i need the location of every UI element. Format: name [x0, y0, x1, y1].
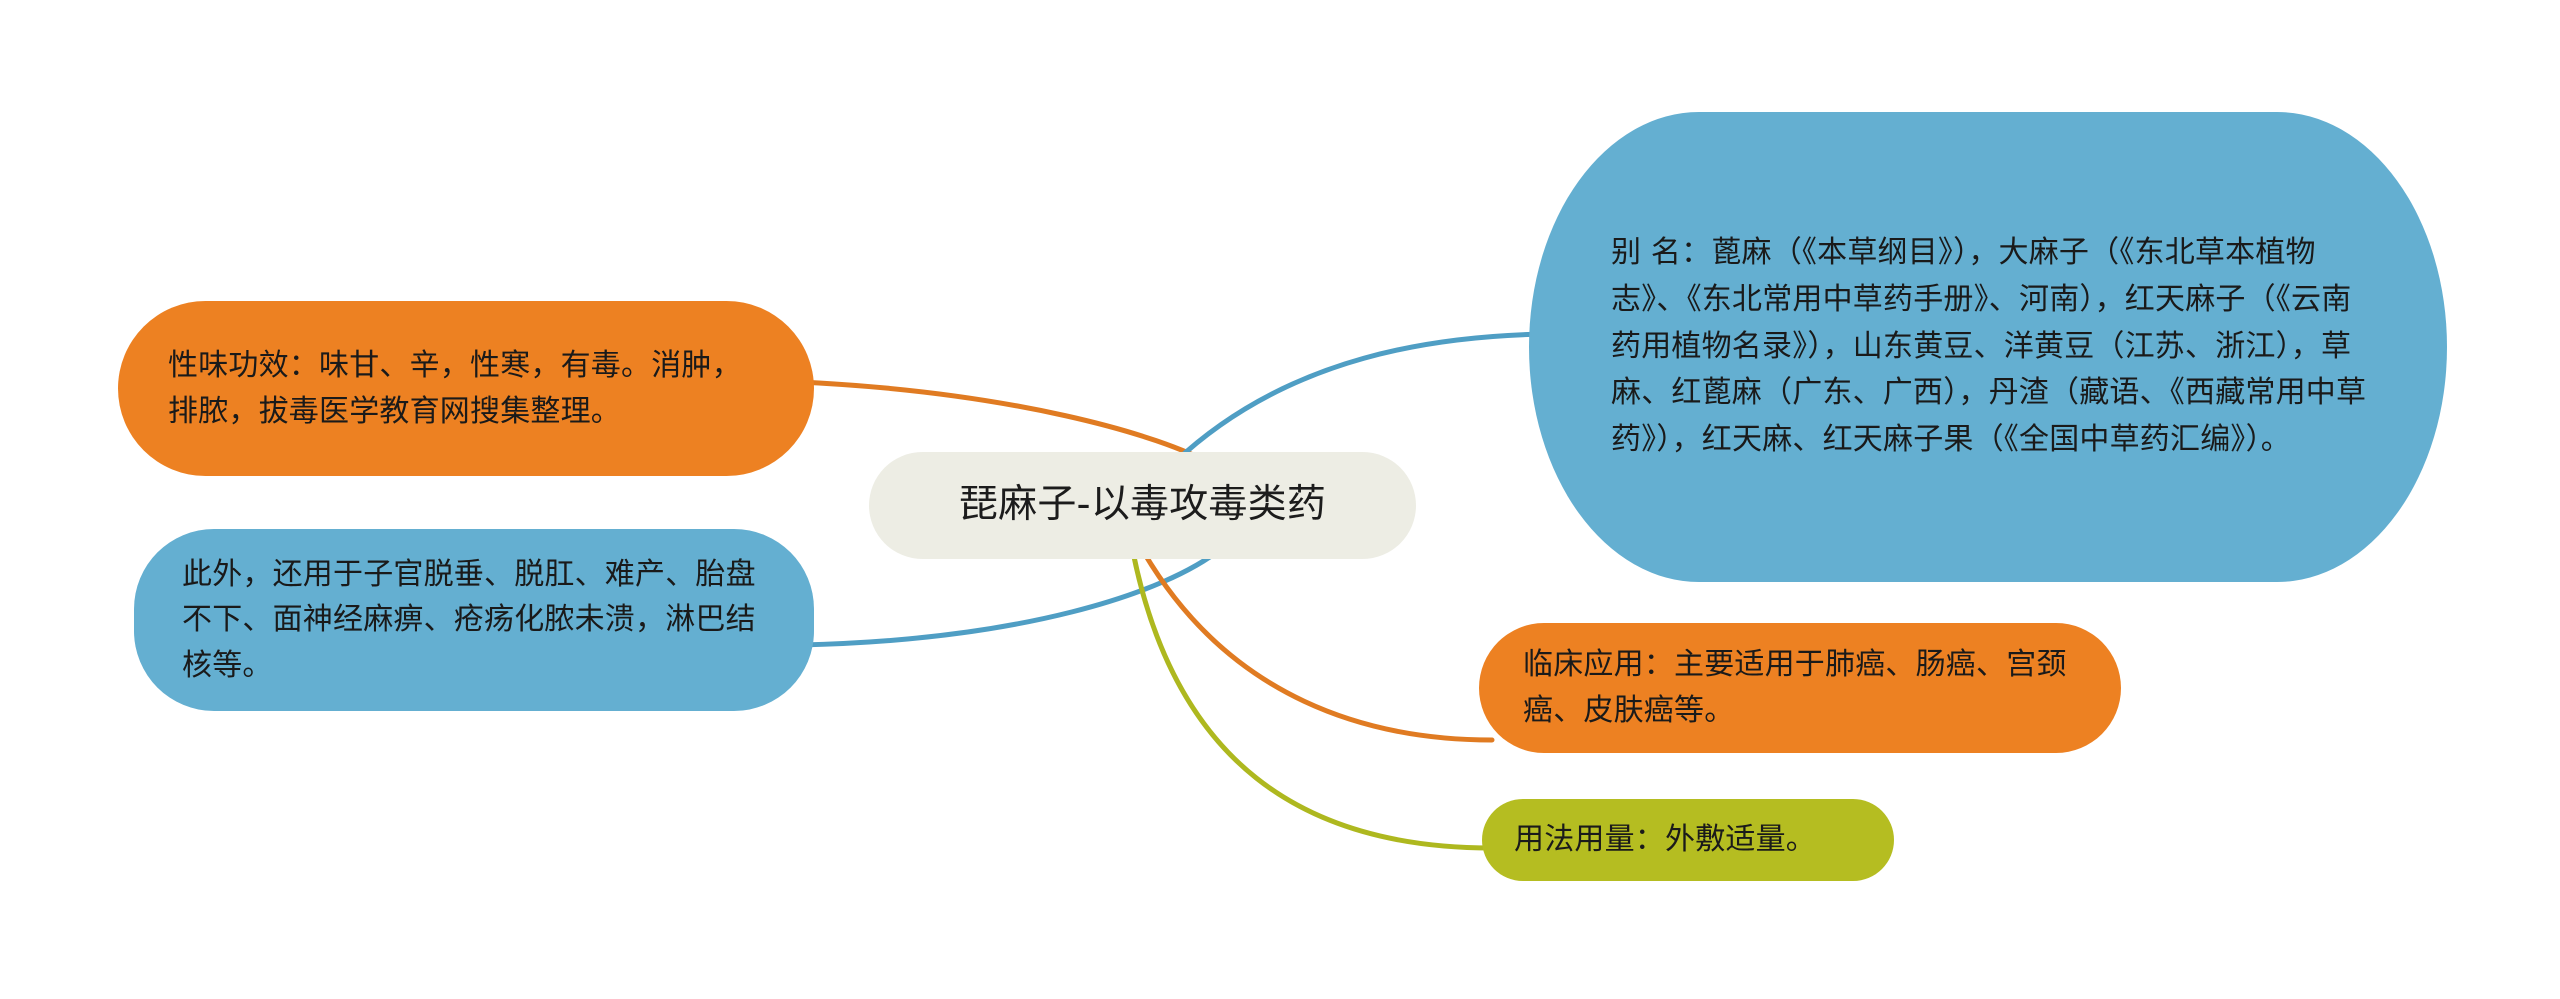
branch-label-additional: 此外，还用于子官脱垂、脱肛、难产、胎盘不下、面神经麻痹、疮疡化脓未溃，淋巴结核等…: [182, 552, 774, 689]
mind-map-canvas: 琵麻子-以毒攻毒类药 性味功效：味甘、辛，性寒，有毒。消肿，排脓，拔毒医学教育网…: [0, 0, 2560, 999]
branch-label-nature: 性味功效：味甘、辛，性寒，有毒。消肿，排脓，拔毒医学教育网搜集整理。: [168, 343, 770, 434]
branch-label-clinical: 临床应用：主要适用于肺癌、肠癌、宫颈癌、皮肤癌等。: [1523, 642, 2083, 733]
branch-node-nature[interactable]: 性味功效：味甘、辛，性寒，有毒。消肿，排脓，拔毒医学教育网搜集整理。: [118, 301, 814, 476]
connector-additional: [800, 548, 1222, 645]
branch-node-dosage[interactable]: 用法用量：外敷适量。: [1482, 799, 1894, 881]
branch-label-alias: 别 名：蓖麻（《本草纲目》），大麻子（《东北草本植物志》、《东北常用中草药手册》…: [1611, 230, 2373, 464]
branch-node-alias[interactable]: 别 名：蓖麻（《本草纲目》），大麻子（《东北草本植物志》、《东北常用中草药手册》…: [1529, 112, 2447, 582]
center-topic-label: 琵麻子-以毒攻毒类药: [899, 483, 1386, 528]
connector-dosage: [1133, 552, 1492, 848]
center-topic-node[interactable]: 琵麻子-以毒攻毒类药: [869, 452, 1416, 559]
branch-node-additional[interactable]: 此外，还用于子官脱垂、脱肛、难产、胎盘不下、面神经麻痹、疮疡化脓未溃，淋巴结核等…: [134, 529, 814, 711]
branch-node-clinical[interactable]: 临床应用：主要适用于肺癌、肠癌、宫颈癌、皮肤癌等。: [1479, 623, 2121, 753]
connector-clinical: [1143, 551, 1492, 740]
connector-alias: [1175, 334, 1546, 462]
branch-label-dosage: 用法用量：外敷适量。: [1514, 817, 1868, 863]
